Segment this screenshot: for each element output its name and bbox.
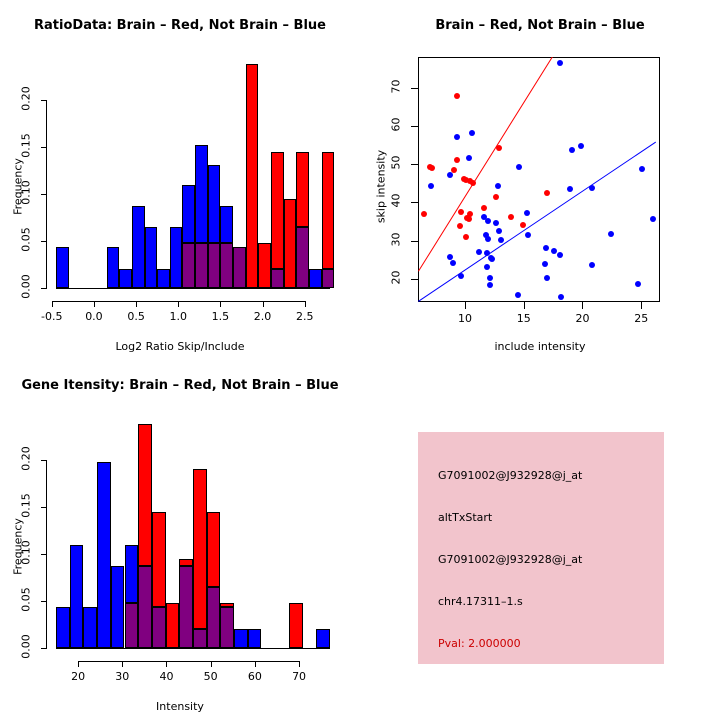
histogram-bar-brain xyxy=(258,243,271,288)
y-axis-tick xyxy=(41,100,47,101)
scatter-point xyxy=(569,147,575,153)
scatter-point xyxy=(429,165,435,171)
scatter-point xyxy=(454,157,460,163)
histogram-bar-overlap xyxy=(322,269,335,288)
histogram-bar-overlap xyxy=(220,243,233,288)
histogram-bar-brain xyxy=(284,199,297,288)
histogram-bar-brain xyxy=(322,152,335,269)
x-axis-tick xyxy=(94,301,95,307)
y-axis-tick xyxy=(411,126,418,127)
scatter-point xyxy=(589,185,595,191)
histogram-bar-not-brain xyxy=(56,247,69,288)
histogram-bar-overlap xyxy=(138,566,152,648)
x-axis-tick xyxy=(136,301,137,307)
scatter-point xyxy=(487,282,493,288)
y-axis-tick xyxy=(41,507,47,508)
y-axis-tick-label: 0.20 xyxy=(20,433,33,483)
panel-scatter: Brain – Red, Not Brain – Blue skip inten… xyxy=(360,0,720,360)
regression-line-not-brain-fit xyxy=(418,142,656,302)
x-axis-tick xyxy=(299,661,300,667)
ratio-hist-plot-area: 0.000.050.100.150.20-0.50.00.51.01.52.02… xyxy=(0,0,360,360)
histogram-bar-overlap xyxy=(271,269,284,288)
scatter-point xyxy=(428,183,434,189)
info-line-3: G7091002@J932928@j_at xyxy=(438,553,582,566)
scatter-point xyxy=(558,294,564,300)
y-axis-tick xyxy=(411,164,418,165)
x-axis-tick xyxy=(211,661,212,667)
panel-gene-histogram: Gene Itensity: Brain – Red, Not Brain – … xyxy=(0,360,360,720)
x-axis-tick xyxy=(78,661,79,667)
scatter-point xyxy=(489,256,495,262)
y-axis-tick-label: 40 xyxy=(390,181,403,221)
scatter-point xyxy=(463,234,469,240)
histogram-bar-overlap xyxy=(125,603,139,648)
histogram-baseline xyxy=(56,648,330,649)
histogram-bar-not-brain xyxy=(97,462,111,648)
scatter-point xyxy=(496,228,502,234)
scatter-point xyxy=(476,249,482,255)
x-axis-tick xyxy=(582,302,583,309)
histogram-bar-not-brain xyxy=(316,629,330,648)
histogram-bar-brain xyxy=(296,152,309,226)
scatter-point xyxy=(635,281,641,287)
scatter-point xyxy=(450,260,456,266)
x-axis-tick-label: 15 xyxy=(499,312,549,325)
scatter-point xyxy=(608,231,614,237)
scatter-point xyxy=(542,261,548,267)
y-axis-tick-label: 60 xyxy=(390,104,403,144)
scatter-point xyxy=(451,167,457,173)
scatter-point xyxy=(557,60,563,66)
scatter-point xyxy=(516,164,522,170)
info-line-5: Pval: 2.000000 xyxy=(438,637,521,650)
scatter-point xyxy=(525,232,531,238)
histogram-bar-overlap xyxy=(296,227,309,288)
scatter-point xyxy=(485,218,491,224)
gene-hist-plot-area: 0.000.050.100.150.20203040506070 xyxy=(0,360,360,720)
panel-ratio-histogram: RatioData: Brain – Red, Not Brain – Blue… xyxy=(0,0,360,360)
x-axis-tick-label: 70 xyxy=(274,670,324,683)
histogram-bar-brain xyxy=(289,603,303,648)
histogram-bar-not-brain xyxy=(107,247,120,288)
x-axis-tick-label: 60 xyxy=(230,670,280,683)
histogram-bar-overlap xyxy=(207,587,221,648)
y-axis-tick-label: 30 xyxy=(390,219,403,259)
y-axis-tick-label: 0.20 xyxy=(20,73,33,123)
y-axis-tick-label: 0.05 xyxy=(20,214,33,264)
scatter-point xyxy=(650,216,656,222)
y-axis-tick xyxy=(41,554,47,555)
x-axis-tick-label: 2.5 xyxy=(280,310,330,323)
histogram-baseline xyxy=(56,288,330,289)
x-axis-tick-label: 25 xyxy=(616,312,666,325)
y-axis-tick xyxy=(411,241,418,242)
histogram-bar-brain xyxy=(138,424,152,566)
histogram-bar-not-brain xyxy=(182,185,195,242)
scatter-point xyxy=(458,273,464,279)
scatter-point xyxy=(481,205,487,211)
histogram-bar-brain xyxy=(179,559,193,567)
histogram-bar-not-brain xyxy=(145,227,158,288)
histogram-bar-not-brain xyxy=(111,566,125,648)
x-axis-tick-label: 20 xyxy=(53,670,103,683)
scatter-point xyxy=(557,252,563,258)
y-axis-tick-label: 0.00 xyxy=(20,262,33,312)
histogram-bar-not-brain xyxy=(309,269,322,288)
y-axis-tick xyxy=(411,88,418,89)
x-axis-tick xyxy=(524,302,525,309)
scatter-point xyxy=(487,275,493,281)
info-line-2: altTxStart xyxy=(438,511,492,524)
x-axis-tick xyxy=(255,661,256,667)
histogram-bar-not-brain xyxy=(234,629,248,648)
scatter-point xyxy=(421,211,427,217)
x-axis-tick xyxy=(52,301,53,307)
y-axis-tick xyxy=(41,460,47,461)
scatter-point xyxy=(520,222,526,228)
histogram-bar-not-brain xyxy=(170,227,183,288)
histogram-bar-not-brain xyxy=(125,545,139,602)
x-axis-tick-label: 30 xyxy=(97,670,147,683)
panel-gene-info: G7091002@J932928@j_ataltTxStartG7091002@… xyxy=(418,432,664,664)
figure-canvas: RatioData: Brain – Red, Not Brain – Blue… xyxy=(0,0,720,720)
x-axis-tick xyxy=(465,302,466,309)
histogram-bar-not-brain xyxy=(248,629,262,648)
histogram-bar-not-brain xyxy=(208,165,221,243)
y-axis-tick xyxy=(41,601,47,602)
histogram-bar-brain xyxy=(271,152,284,269)
scatter-point xyxy=(639,166,645,172)
scatter-point xyxy=(544,190,550,196)
scatter-point xyxy=(458,209,464,215)
histogram-bar-not-brain xyxy=(132,206,145,288)
histogram-bar-overlap xyxy=(193,629,207,648)
scatter-point xyxy=(454,93,460,99)
histogram-bar-brain xyxy=(152,512,166,606)
x-axis-tick xyxy=(263,301,264,307)
x-axis-tick-label: 10 xyxy=(440,312,490,325)
y-axis-tick-label: 70 xyxy=(390,66,403,106)
y-axis-tick-label: 0.15 xyxy=(20,480,33,530)
x-axis-tick xyxy=(166,661,167,667)
histogram-bar-not-brain xyxy=(70,545,84,648)
scatter-point xyxy=(466,216,472,222)
y-axis-tick xyxy=(41,288,47,289)
scatter-point xyxy=(484,264,490,270)
y-axis-tick xyxy=(41,648,47,649)
scatter-point xyxy=(496,145,502,151)
scatter-point xyxy=(515,292,521,298)
histogram-bar-brain xyxy=(207,512,221,586)
histogram-bar-not-brain xyxy=(220,206,233,243)
scatter-point xyxy=(466,155,472,161)
histogram-bar-overlap xyxy=(233,247,246,288)
histogram-bar-brain xyxy=(193,469,207,629)
histogram-bar-not-brain xyxy=(56,607,70,648)
y-axis-tick xyxy=(411,202,418,203)
scatter-point xyxy=(470,180,476,186)
scatter-point xyxy=(485,236,491,242)
y-axis-tick-label: 0.10 xyxy=(20,527,33,577)
histogram-bar-not-brain xyxy=(157,269,170,288)
y-axis-tick-label: 0.00 xyxy=(20,622,33,672)
scatter-point xyxy=(543,245,549,251)
histogram-bar-overlap xyxy=(179,566,193,648)
histogram-bar-overlap xyxy=(152,607,166,648)
scatter-point xyxy=(498,237,504,243)
scatter-point xyxy=(589,262,595,268)
histogram-bar-brain xyxy=(246,64,259,288)
scatter-point xyxy=(495,183,501,189)
x-axis-spine xyxy=(78,661,300,662)
info-line-1: G7091002@J932928@j_at xyxy=(438,469,582,482)
histogram-bar-overlap xyxy=(208,243,221,288)
y-axis-tick xyxy=(41,194,47,195)
x-axis-tick xyxy=(178,301,179,307)
scatter-point xyxy=(454,134,460,140)
scatter-point xyxy=(493,220,499,226)
x-axis-tick-label: 20 xyxy=(557,312,607,325)
x-axis-tick xyxy=(641,302,642,309)
scatter-clip xyxy=(418,57,660,302)
scatter-point xyxy=(544,275,550,281)
scatter-point xyxy=(447,254,453,260)
scatter-point xyxy=(524,210,530,216)
histogram-bar-brain xyxy=(166,603,180,648)
x-axis-tick-label: 50 xyxy=(186,670,236,683)
scatter-point xyxy=(508,214,514,220)
x-axis-tick xyxy=(305,301,306,307)
y-axis-tick-label: 0.10 xyxy=(20,167,33,217)
scatter-point xyxy=(469,130,475,136)
y-axis-tick xyxy=(411,279,418,280)
histogram-bar-overlap xyxy=(195,243,208,288)
histogram-bar-not-brain xyxy=(119,269,132,288)
histogram-bar-not-brain xyxy=(195,145,208,243)
scatter-point xyxy=(447,172,453,178)
y-axis-tick-label: 0.05 xyxy=(20,574,33,624)
scatter-point xyxy=(567,186,573,192)
y-axis-tick xyxy=(41,241,47,242)
scatter-point xyxy=(457,223,463,229)
info-line-4: chr4.17311–1.s xyxy=(438,595,523,608)
x-axis-tick-label: 40 xyxy=(141,670,191,683)
y-axis-tick-label: 0.15 xyxy=(20,120,33,170)
histogram-bar-overlap xyxy=(220,607,234,648)
y-axis-tick-label: 50 xyxy=(390,143,403,183)
y-axis-tick-label: 20 xyxy=(390,258,403,298)
scatter-plot-area: 20304050607010152025 xyxy=(360,0,720,360)
scatter-point xyxy=(578,143,584,149)
scatter-point xyxy=(493,194,499,200)
histogram-bar-overlap xyxy=(182,243,195,288)
x-axis-tick xyxy=(220,301,221,307)
histogram-bar-not-brain xyxy=(83,607,97,648)
x-axis-tick xyxy=(122,661,123,667)
y-axis-tick xyxy=(41,147,47,148)
